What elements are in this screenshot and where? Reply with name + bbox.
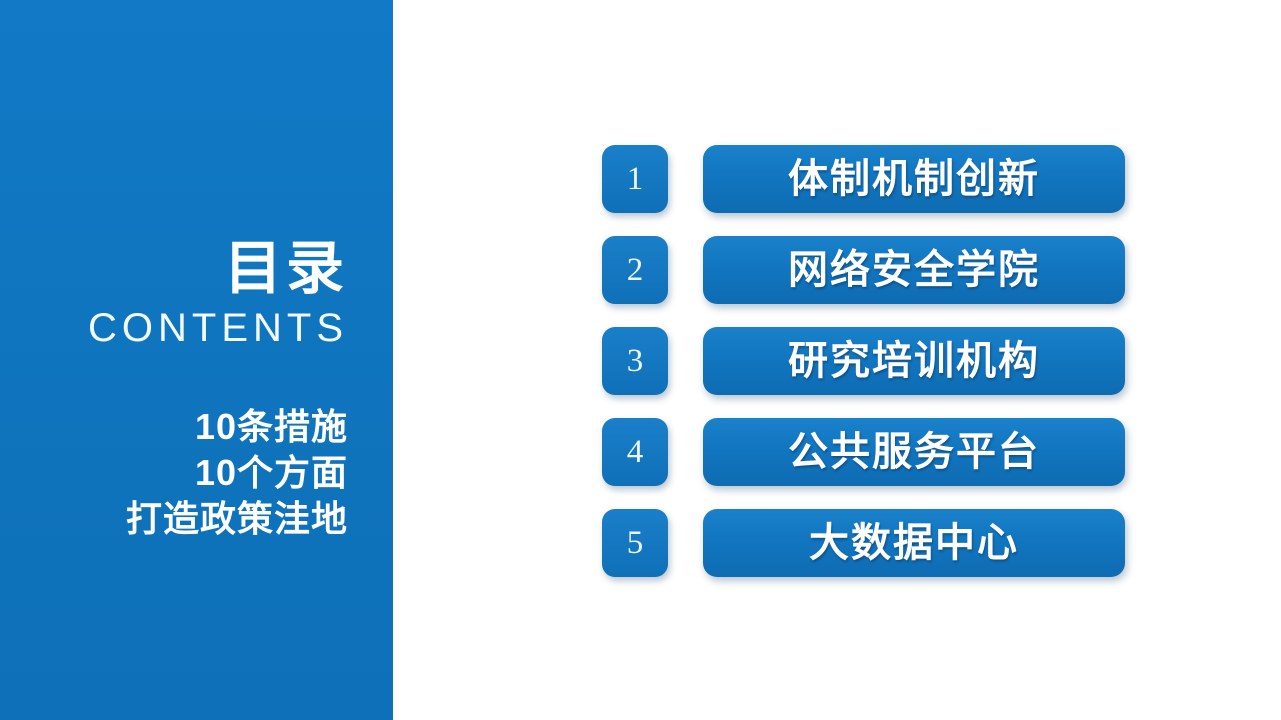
agenda-item-1-number-badge: 1	[602, 145, 668, 213]
agenda-item-2-label: 网络安全学院	[788, 250, 1040, 290]
agenda-item-3[interactable]: 3 研究培训机构	[602, 327, 1125, 395]
agenda-item-2[interactable]: 2 网络安全学院	[602, 236, 1125, 304]
agenda-item-5[interactable]: 5 大数据中心	[602, 509, 1125, 577]
page-title-chinese: 目录	[28, 236, 348, 302]
agenda-item-3-bar[interactable]: 研究培训机构	[703, 327, 1125, 395]
agenda-item-5-bar[interactable]: 大数据中心	[703, 509, 1125, 577]
agenda-item-4-label: 公共服务平台	[788, 432, 1040, 472]
agenda-item-4-bar[interactable]: 公共服务平台	[703, 418, 1125, 486]
agenda-heading-block: 目录 CONTENTS 10条措施 10个方面 打造政策洼地	[28, 236, 348, 542]
agenda-item-3-number-badge: 3	[602, 327, 668, 395]
left-blue-panel: 目录 CONTENTS 10条措施 10个方面 打造政策洼地	[0, 0, 393, 720]
agenda-item-5-label: 大数据中心	[809, 523, 1019, 563]
agenda-item-list: 1 体制机制创新 2 网络安全学院 3 研究培训机构 4 公共服务平台 5	[602, 145, 1125, 600]
presentation-slide: 目录 CONTENTS 10条措施 10个方面 打造政策洼地 1 体制机制创新 …	[0, 0, 1281, 720]
agenda-item-4-number-badge: 4	[602, 418, 668, 486]
page-title-english: CONTENTS	[28, 304, 348, 352]
agenda-item-2-bar[interactable]: 网络安全学院	[703, 236, 1125, 304]
agenda-item-1-label: 体制机制创新	[788, 159, 1040, 199]
agenda-item-1-bar[interactable]: 体制机制创新	[703, 145, 1125, 213]
subtitle-block: 10条措施 10个方面 打造政策洼地	[28, 404, 348, 542]
agenda-item-1[interactable]: 1 体制机制创新	[602, 145, 1125, 213]
agenda-item-5-number-badge: 5	[602, 509, 668, 577]
subtitle-line-1: 10条措施	[28, 404, 348, 450]
agenda-item-4[interactable]: 4 公共服务平台	[602, 418, 1125, 486]
subtitle-line-3: 打造政策洼地	[28, 496, 348, 542]
subtitle-line-2: 10个方面	[28, 450, 348, 496]
agenda-item-3-label: 研究培训机构	[788, 341, 1040, 381]
agenda-item-2-number-badge: 2	[602, 236, 668, 304]
